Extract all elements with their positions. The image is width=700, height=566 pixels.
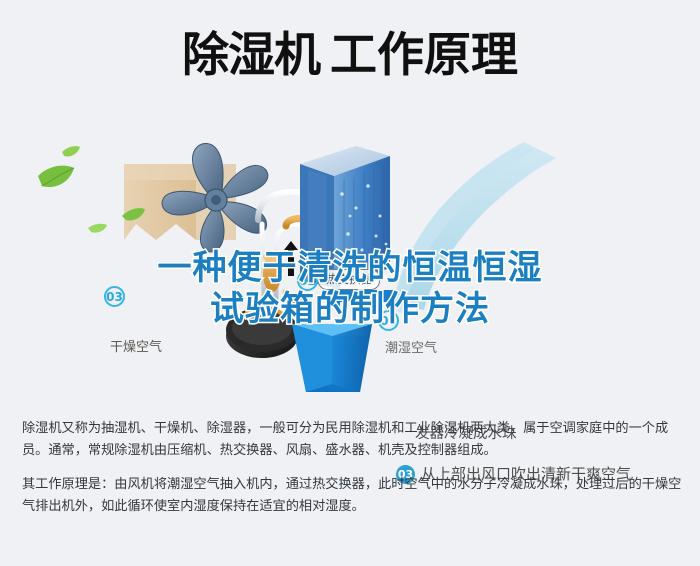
poster-page: 除湿机工作原理 [0,0,700,566]
heat-exchanger-label: 热交换器 [318,269,380,290]
paragraph-1: 除湿机又称为抽湿机、干燥机、除湿器，一般可分为民用除湿机和工业除湿机两大类，属于… [22,418,682,462]
article-body: 除湿机又称为抽湿机、干燥机、除湿器，一般可分为民用除湿机和工业除湿机两大类，属于… [22,418,682,518]
title-part-1: 除湿机 [182,28,320,83]
diagram-svg [0,124,700,404]
compressor-unit [226,308,298,358]
humid-air-label: 潮湿空气 [385,337,437,356]
dry-air-label: 干燥空气 [110,336,162,355]
heat-exchanger-block [300,146,390,288]
page-title: 除湿机工作原理 [0,32,700,79]
dehumidifier-diagram: 03 02 01 03 热交换器 干燥空气 潮湿空气 水箱 发器冷凝成水珠 从上… [0,124,700,404]
badge-step-02: 02 [297,270,318,291]
fan-illustration [162,143,268,252]
badge-step-03-dry: 03 [104,286,125,307]
paragraph-2: 其工作原理是：由风机将潮湿空气抽入机内，通过热交换器，此时空气中的水分子冷凝成水… [22,474,682,518]
title-part-2: 工作原理 [330,28,518,83]
badge-step-01: 01 [378,310,399,331]
humid-air-arc [392,142,556,314]
title-text: 除湿机工作原理 [182,32,518,79]
water-tank [292,324,372,392]
